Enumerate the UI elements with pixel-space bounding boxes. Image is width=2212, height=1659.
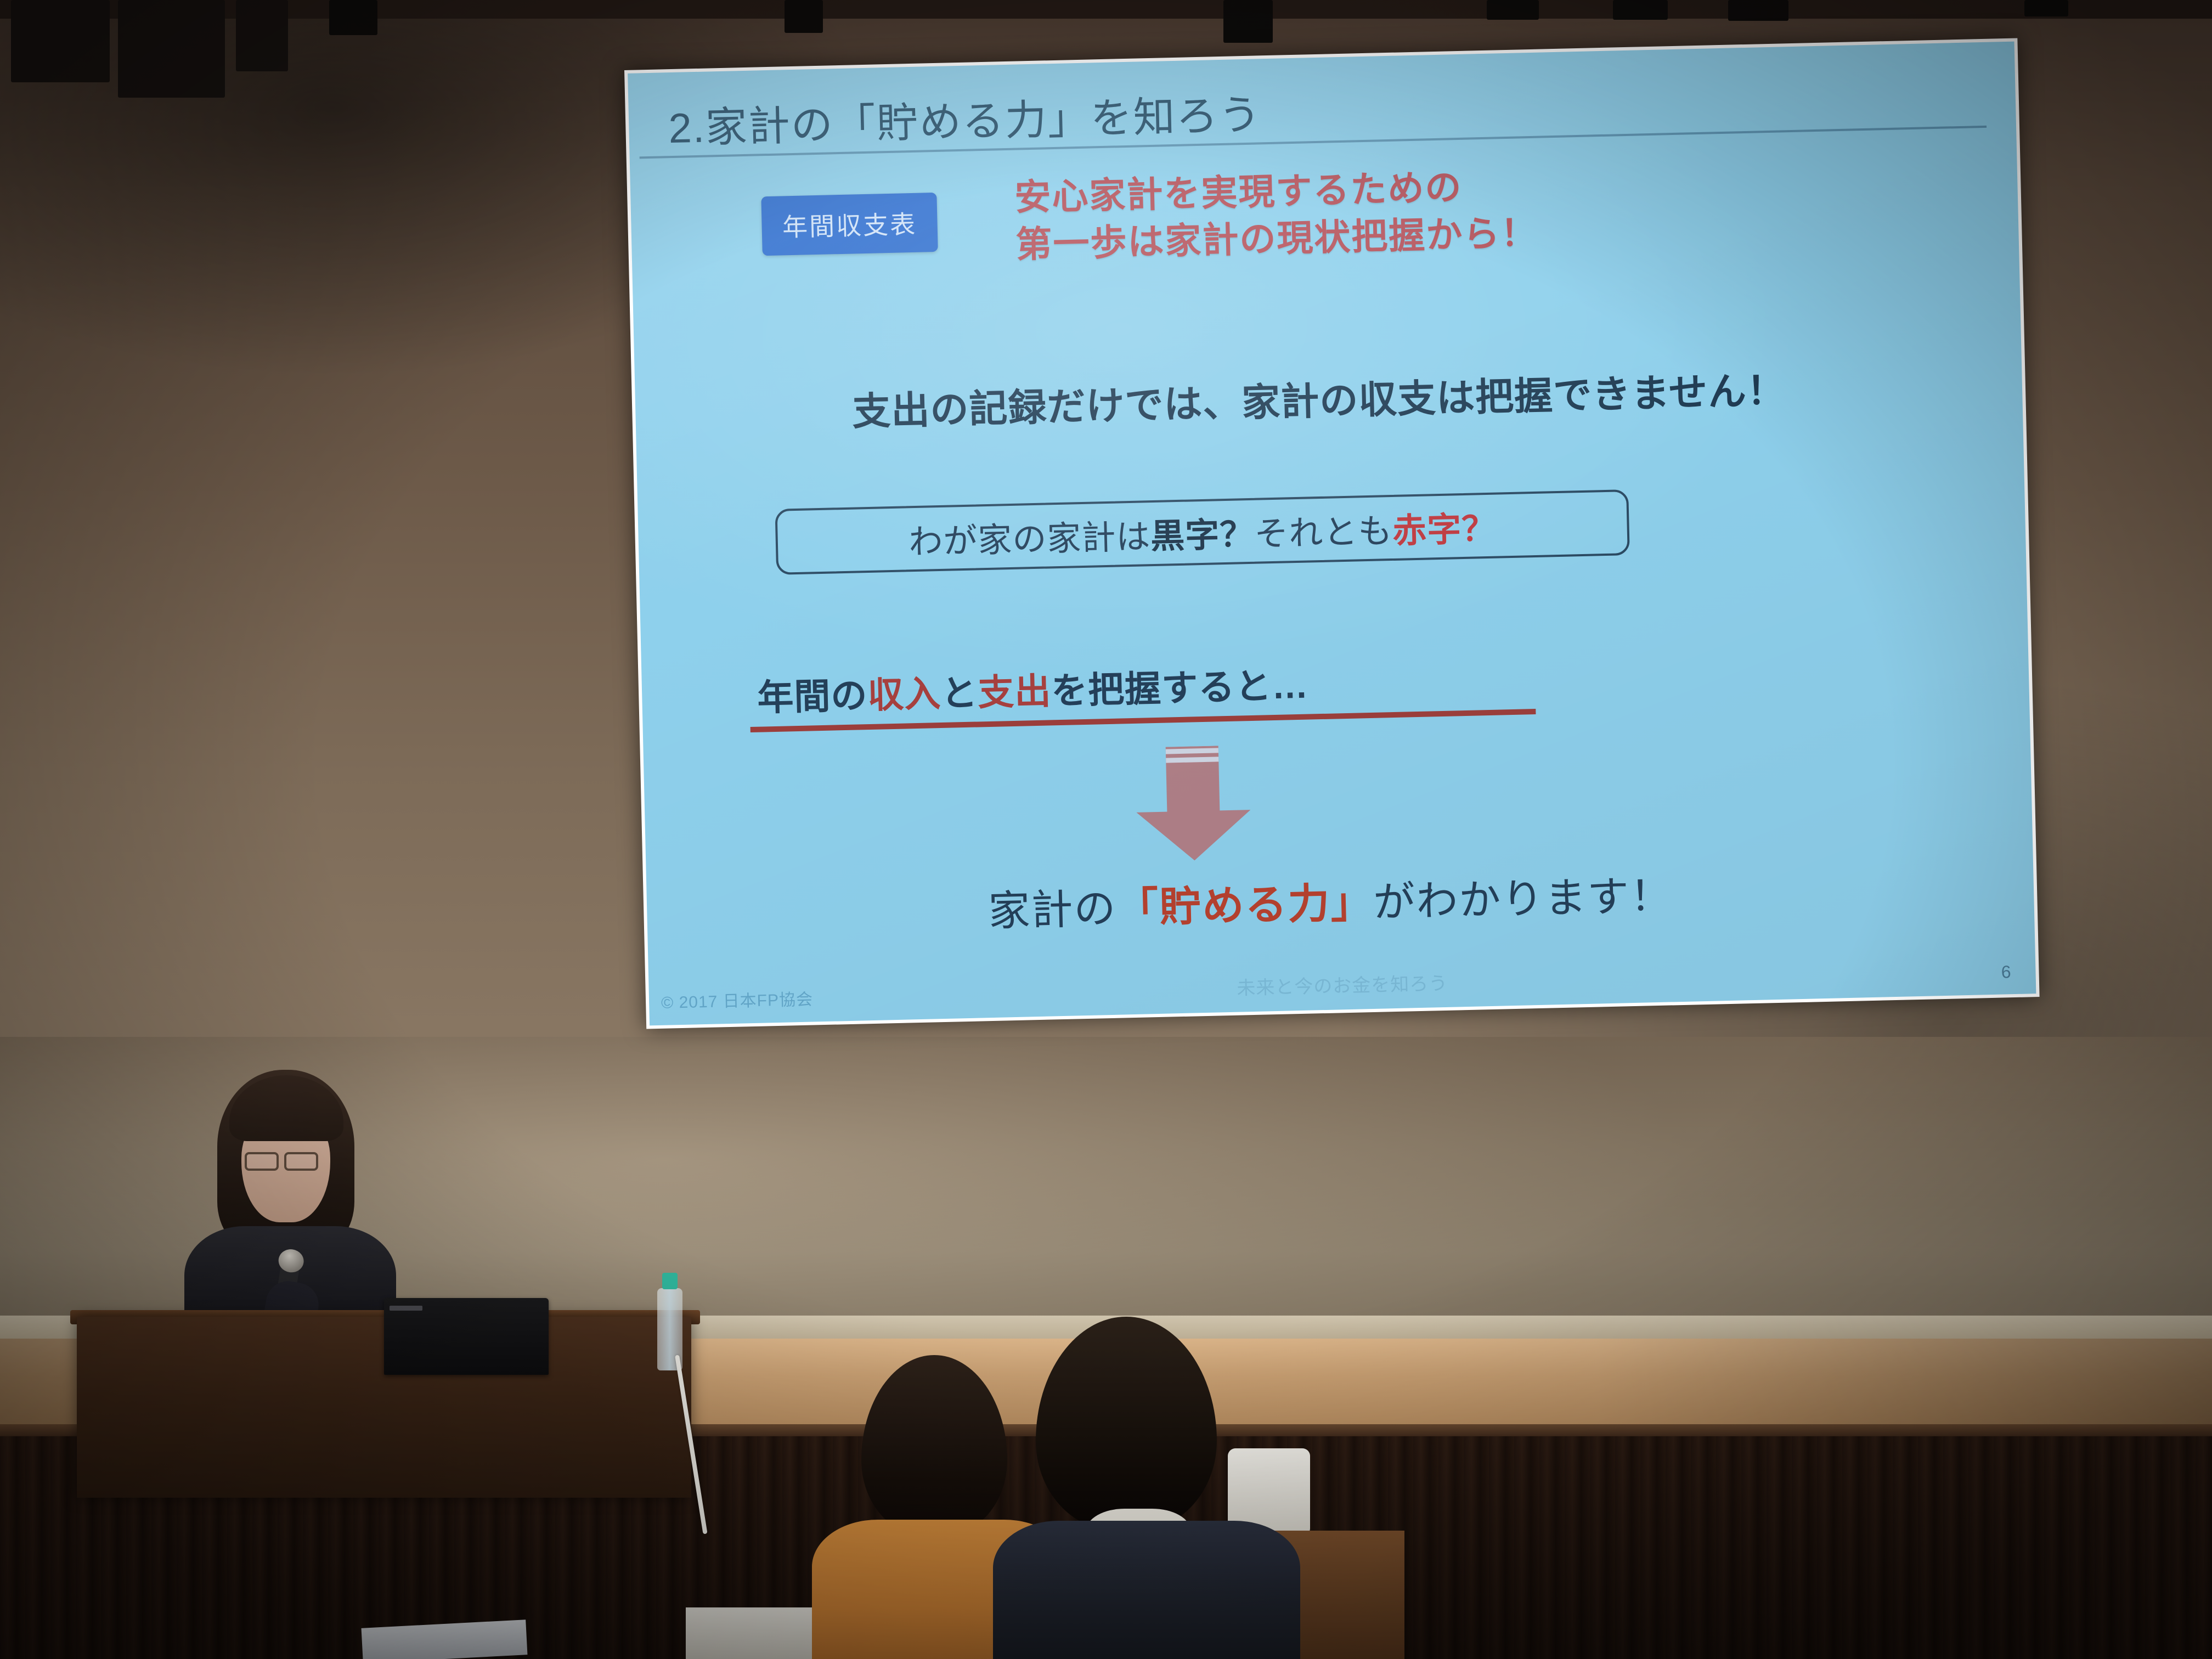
stage-light-fixture <box>1487 0 1539 20</box>
bottle-cap <box>662 1273 678 1289</box>
stage-light-fixture <box>1613 0 1668 20</box>
conclusion-suffix: がわかります！ <box>1373 872 1673 926</box>
conclusion-red-emphasis: 「貯める力」 <box>1116 879 1374 932</box>
question-text: わが家の家計は黒字？それとも赤字？ <box>908 501 1497 564</box>
audience-member-dark-suit <box>1020 1317 1256 1659</box>
down-arrow-icon <box>1126 745 1261 863</box>
conclusion-prefix: 家計の <box>988 885 1118 935</box>
glasses-icon <box>284 1152 318 1171</box>
screenshot-root: 2.家計の「貯める力」を知ろう 年間収支表 安心家計を実現するための 第一歩は家… <box>0 0 2212 1659</box>
presentation-slide: 2.家計の「貯める力」を知ろう 年間収支表 安心家計を実現するための 第一歩は家… <box>628 42 2036 1026</box>
underlined-red-expense: 支出 <box>977 670 1052 713</box>
question-black-emphasis: 黒字？ <box>1150 516 1255 556</box>
question-red-emphasis: 赤字？ <box>1392 510 1497 550</box>
audience-head <box>1036 1317 1217 1531</box>
question-middle: それとも <box>1254 512 1393 554</box>
annual-balance-sheet-badge: 年間収支表 <box>761 193 938 256</box>
stage-light-fixture <box>2024 0 2068 16</box>
question-callout-box: わが家の家計は黒字？それとも赤字？ <box>775 489 1629 575</box>
underlined-part-2: と <box>940 672 978 714</box>
audience-head <box>861 1355 1007 1536</box>
slide-page-number: 6 <box>2001 962 2012 982</box>
slide-title: 2.家計の「貯める力」を知ろう <box>668 81 1262 155</box>
stage-light-fixture <box>785 0 823 33</box>
question-prefix: わが家の家計は <box>909 518 1151 561</box>
laptop <box>384 1298 549 1375</box>
underlined-red-income: 収入 <box>867 673 942 715</box>
stage-light-fixture <box>1223 0 1273 43</box>
underlined-part-1: 年間の <box>757 675 868 718</box>
stage-light-fixture <box>118 0 225 98</box>
stage-light-fixture <box>236 0 288 71</box>
stage-light-fixture <box>11 0 110 82</box>
conclusion-line: 家計の「貯める力」がわかります！ <box>699 855 1962 944</box>
stage-light-fixture <box>329 0 377 35</box>
projection-screen: 2.家計の「貯める力」を知ろう 年間収支表 安心家計を実現するための 第一歩は家… <box>624 38 2040 1029</box>
stage-light-fixture <box>1728 0 1788 21</box>
glasses-icon <box>245 1152 279 1171</box>
main-statement: 支出の記録だけでは、家計の収支は把握できません！ <box>687 356 1950 441</box>
underlined-statement: 年間の収入と支出を把握すると… <box>757 651 1531 721</box>
underlined-part-3: を把握すると… <box>1051 665 1309 712</box>
audience-torso <box>993 1521 1300 1659</box>
red-headline: 安心家計を実現するための 第一歩は家計の現状把握から！ <box>1014 162 1539 268</box>
